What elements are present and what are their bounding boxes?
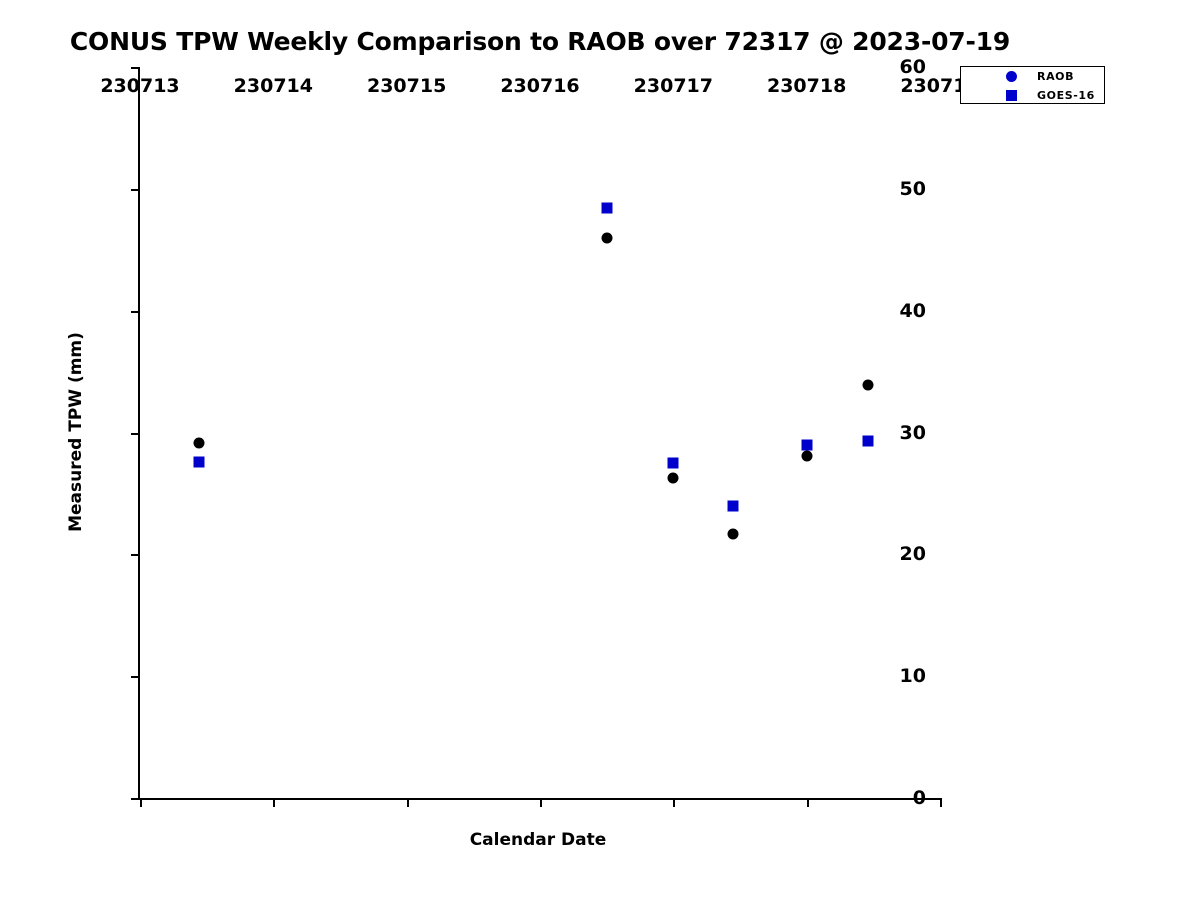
legend-swatch-square-icon — [1003, 86, 1019, 105]
data-points-layer — [140, 67, 940, 798]
x-tick-mark — [940, 798, 942, 807]
x-tick-mark — [540, 798, 542, 807]
legend-item-goes-16[interactable]: GOES-16 — [961, 86, 1104, 105]
data-point-goes-16 — [193, 456, 204, 467]
plot-area: 0102030405060 23071323071423071523071623… — [138, 67, 940, 800]
legend-swatch-circle-icon — [1003, 67, 1019, 86]
chart-figure: CONUS TPW Weekly Comparison to RAOB over… — [0, 0, 1200, 900]
y-tick-mark — [131, 433, 140, 435]
x-tick-mark — [140, 798, 142, 807]
data-point-raob — [668, 472, 679, 483]
y-axis-label: Measured TPW (mm) — [66, 332, 86, 532]
y-tick-mark — [131, 676, 140, 678]
data-point-goes-16 — [601, 203, 612, 214]
data-point-raob — [863, 379, 874, 390]
x-tick-mark — [273, 798, 275, 807]
y-tick-mark — [131, 311, 140, 313]
data-point-raob — [801, 450, 812, 461]
legend-label: RAOB — [1037, 70, 1074, 83]
legend-item-raob[interactable]: RAOB — [961, 67, 1104, 86]
x-tick-mark — [407, 798, 409, 807]
x-tick-mark — [673, 798, 675, 807]
y-tick-mark — [131, 189, 140, 191]
x-tick-mark — [807, 798, 809, 807]
data-point-goes-16 — [801, 439, 812, 450]
data-point-goes-16 — [863, 436, 874, 447]
data-point-raob — [728, 528, 739, 539]
x-axis-label: Calendar Date — [470, 830, 607, 850]
legend-label: GOES-16 — [1037, 89, 1095, 102]
data-point-goes-16 — [668, 457, 679, 468]
chart-legend: RAOBGOES-16 — [960, 66, 1105, 104]
y-tick-mark — [131, 67, 140, 69]
page-title: CONUS TPW Weekly Comparison to RAOB over… — [0, 27, 1080, 56]
data-point-raob — [193, 438, 204, 449]
y-tick-mark — [131, 798, 140, 800]
data-point-raob — [601, 232, 612, 243]
y-tick-mark — [131, 554, 140, 556]
data-point-goes-16 — [728, 500, 739, 511]
